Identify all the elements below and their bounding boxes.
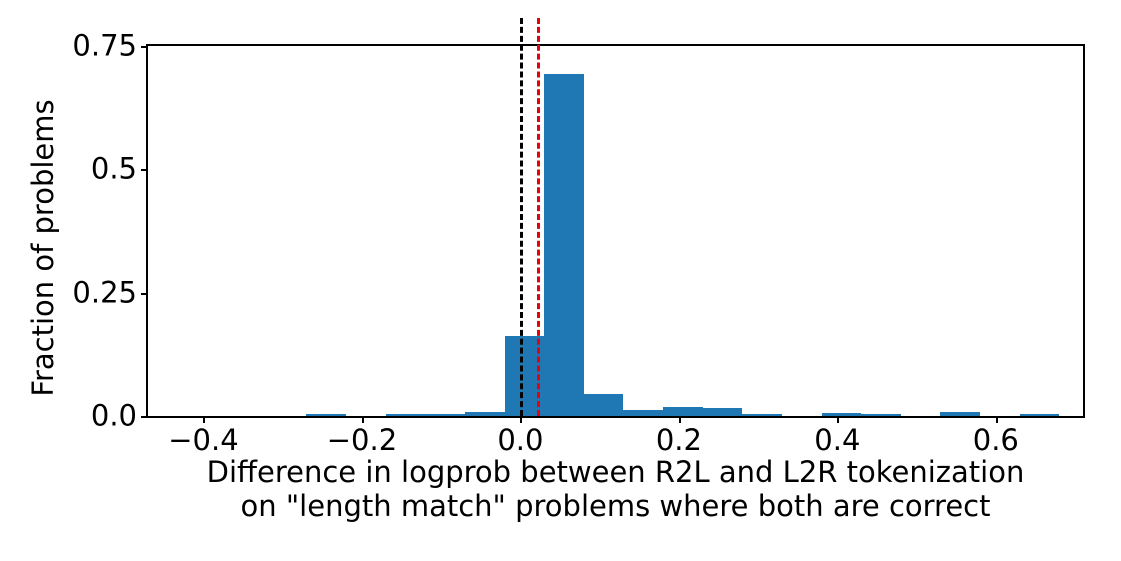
y-axis-tick [141, 293, 148, 295]
histogram-bar [465, 412, 505, 416]
histogram-bar [584, 394, 624, 416]
x-axis-tick [362, 416, 364, 423]
histogram-bar [623, 410, 663, 416]
y-axis-tick [141, 46, 148, 48]
x-axis-label: Difference in logprob between R2L and L2… [146, 455, 1085, 523]
x-axis-tick-label: −0.4 [168, 426, 238, 455]
histogram-bar [425, 414, 465, 416]
x-axis-tick [203, 416, 205, 423]
histogram-bar [386, 414, 426, 416]
mean-line [537, 18, 540, 416]
x-axis-label-line-2: on "length match" problems where both ar… [146, 489, 1085, 523]
x-axis-tick-label: 0.2 [656, 426, 702, 455]
y-axis-tick-label: 0.25 [72, 278, 137, 307]
y-axis-tick-label: 0.5 [91, 155, 137, 184]
y-axis-tick-label: 0.75 [72, 32, 137, 61]
x-axis-tick-label: 0.4 [814, 426, 860, 455]
histogram-bar [544, 74, 584, 416]
y-axis-tick [141, 169, 148, 171]
x-axis-label-line-1: Difference in logprob between R2L and L2… [146, 455, 1085, 489]
histogram-figure: Fraction of problems −0.4−0.20.00.20.40.… [0, 0, 1121, 561]
x-axis-tick [679, 416, 681, 423]
x-axis-tick [837, 416, 839, 423]
x-axis-tick-label: 0.6 [973, 426, 1019, 455]
histogram-bar [861, 414, 901, 416]
x-axis-tick-label: −0.2 [327, 426, 397, 455]
x-axis-tick [520, 416, 522, 423]
histogram-bar [1020, 414, 1060, 416]
plot-axes: −0.4−0.20.00.20.40.60.00.250.50.75 [146, 44, 1085, 418]
histogram-bar [703, 408, 743, 416]
y-axis-label: Fraction of problems [26, 38, 60, 458]
y-axis-tick [141, 416, 148, 418]
histogram-bar [663, 407, 703, 416]
histogram-bar [940, 412, 980, 416]
x-axis-tick-label: 0.0 [497, 426, 543, 455]
plot-surface [148, 46, 1083, 416]
x-axis-tick [996, 416, 998, 423]
histogram-bar [742, 414, 782, 416]
histogram-bar [822, 413, 862, 416]
zero-reference-line [520, 18, 523, 416]
y-axis-tick-label: 0.0 [91, 402, 137, 431]
histogram-bar [306, 414, 346, 416]
